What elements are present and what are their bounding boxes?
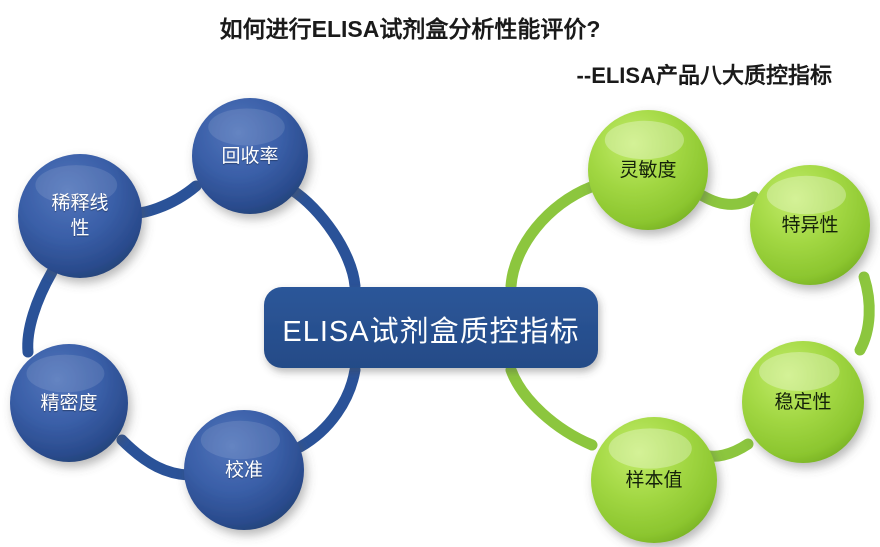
quality-indicator-diagram [0, 0, 880, 547]
connector-center-recovery [292, 190, 355, 286]
connector-precision-calibration [122, 440, 188, 475]
connector-center-sensitivity [511, 187, 591, 286]
node-highlight-precision [27, 355, 105, 393]
node-recovery[interactable] [192, 98, 308, 214]
node-highlight-calibration [201, 421, 280, 459]
connector-dilution-precision [28, 272, 52, 352]
node-specificity[interactable] [750, 165, 870, 285]
connector-specificity-stability [860, 277, 869, 350]
connector-stability-sample [706, 444, 748, 456]
connector-sensitivity-specificity [703, 196, 754, 204]
node-highlight-stability [759, 352, 840, 391]
node-highlight-sensitivity [605, 121, 684, 159]
slide-canvas: 如何进行ELISA试剂盒分析性能评价? --ELISA产品八大质控指标 [0, 0, 880, 547]
node-highlight-recovery [208, 108, 285, 145]
connector-calibration-center [300, 370, 355, 447]
node-highlight-sample-value [609, 428, 692, 468]
connector-recovery-dilution [136, 186, 196, 213]
node-sample-value[interactable] [591, 417, 717, 543]
node-precision[interactable] [10, 344, 128, 462]
node-highlight-dilution [35, 165, 117, 205]
node-dilution[interactable] [18, 154, 142, 278]
node-stability[interactable] [742, 341, 864, 463]
node-calibration[interactable] [184, 410, 304, 530]
center-node[interactable] [264, 287, 598, 368]
center-box[interactable] [264, 287, 598, 368]
node-highlight-specificity [767, 176, 846, 214]
connector-sample-center [511, 370, 592, 445]
node-sensitivity[interactable] [588, 110, 708, 230]
